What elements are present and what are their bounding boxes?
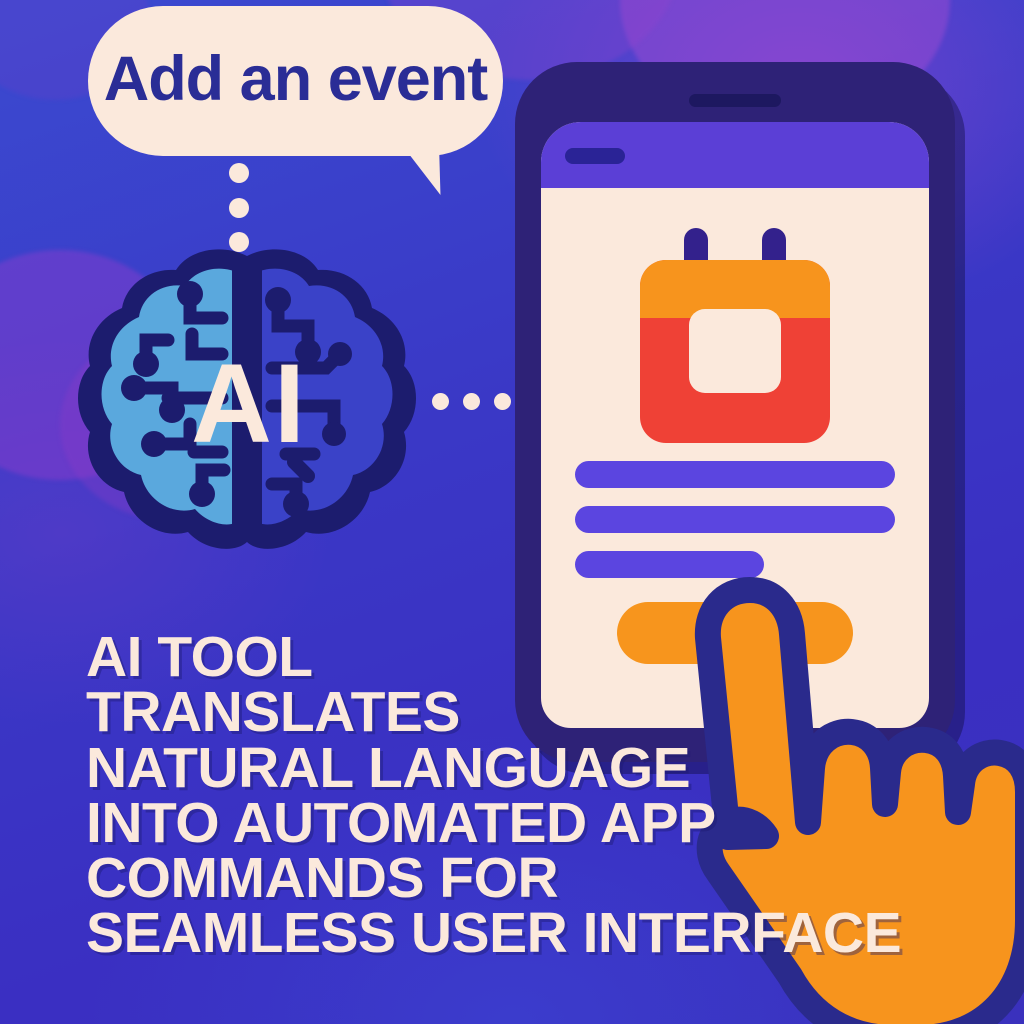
phone-speaker-icon bbox=[689, 94, 781, 107]
headline-line: COMMANDS FOR bbox=[86, 851, 786, 906]
page-title: AI TOOL TRANSLATES NATURAL LANGUAGE INTO… bbox=[86, 630, 786, 962]
ai-brain-icon: AI bbox=[72, 248, 422, 553]
connector-dot bbox=[494, 393, 511, 410]
headline-line: TRANSLATES bbox=[86, 685, 786, 740]
connector-dot bbox=[229, 163, 249, 183]
speech-bubble-label: Add an event bbox=[104, 48, 488, 111]
headline-line: INTO AUTOMATED APP bbox=[86, 796, 786, 851]
brain-label: AI bbox=[74, 251, 424, 556]
calendar-date-square bbox=[689, 309, 781, 393]
speech-bubble: Add an event bbox=[88, 6, 503, 196]
menu-pill-icon[interactable] bbox=[565, 148, 625, 164]
connector-dot bbox=[229, 198, 249, 218]
app-header-bar bbox=[541, 122, 929, 188]
connector-dot bbox=[432, 393, 449, 410]
content-placeholder-list bbox=[575, 461, 895, 578]
headline-line: SEAMLESS USER INTERFACE bbox=[86, 906, 786, 961]
headline-line: NATURAL LANGUAGE bbox=[86, 741, 786, 796]
headline-line: AI TOOL bbox=[86, 630, 786, 685]
calendar-icon bbox=[640, 228, 830, 443]
poster-canvas: Add an event bbox=[0, 0, 1024, 1024]
text-placeholder-bar bbox=[575, 506, 895, 533]
connector-dot bbox=[463, 393, 480, 410]
text-placeholder-bar bbox=[575, 461, 895, 488]
speech-bubble-body: Add an event bbox=[88, 6, 503, 156]
